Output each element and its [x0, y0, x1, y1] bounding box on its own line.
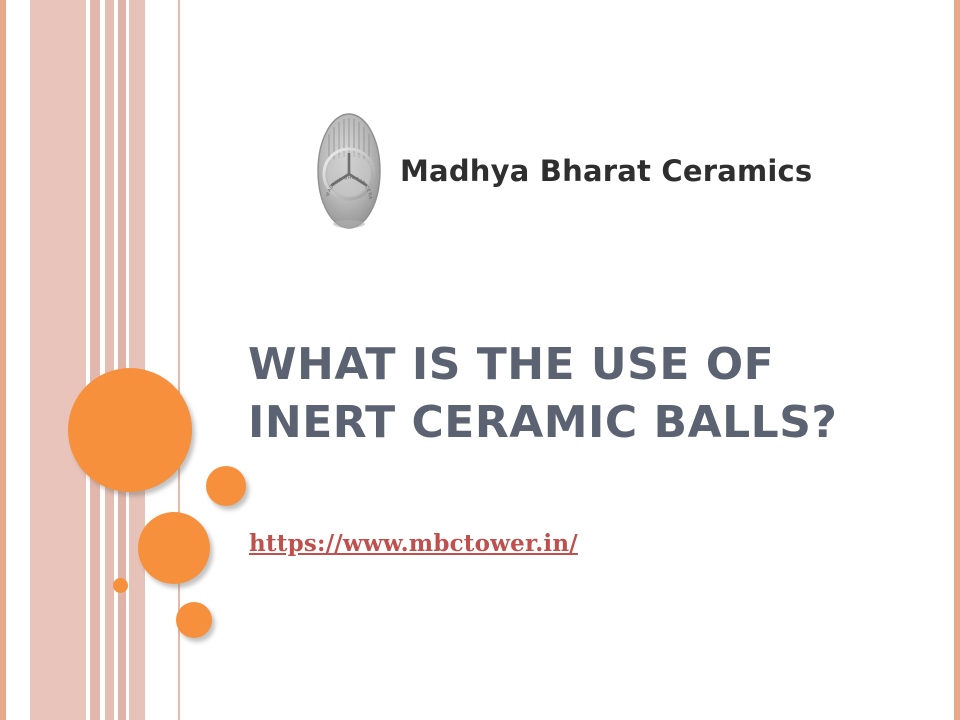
website-link-container: https://www.mbctower.in/	[249, 530, 578, 557]
brand-name-text: Madhya Bharat Ceramics	[400, 154, 812, 188]
circle-small-upper	[206, 466, 246, 506]
circle-large	[68, 368, 192, 492]
circle-tiny	[113, 578, 128, 593]
left-white-gap-1	[6, 0, 30, 720]
left-stripe-b	[90, 0, 100, 720]
left-stripe-f	[118, 0, 126, 720]
circle-medium	[138, 512, 210, 584]
left-stripe-h	[129, 0, 145, 720]
left-stripe-d	[105, 0, 114, 720]
brand-logo: MADHYA BHARAT CERAMICS Madhya Bharat Cer…	[316, 112, 812, 230]
circle-small-lower	[176, 602, 212, 638]
ceramics-oval-logo-icon: MADHYA BHARAT CERAMICS	[316, 112, 382, 230]
left-wide-pink-stripe	[30, 0, 86, 720]
left-white-gap-2	[145, 0, 178, 720]
website-link[interactable]: https://www.mbctower.in/	[249, 530, 578, 557]
page-title: WHAT IS THE USE OF INERT CERAMIC BALLS?	[248, 336, 908, 452]
slide-canvas: MADHYA BHARAT CERAMICS Madhya Bharat Cer…	[0, 0, 960, 720]
right-edge-accent-stripe	[954, 0, 960, 720]
